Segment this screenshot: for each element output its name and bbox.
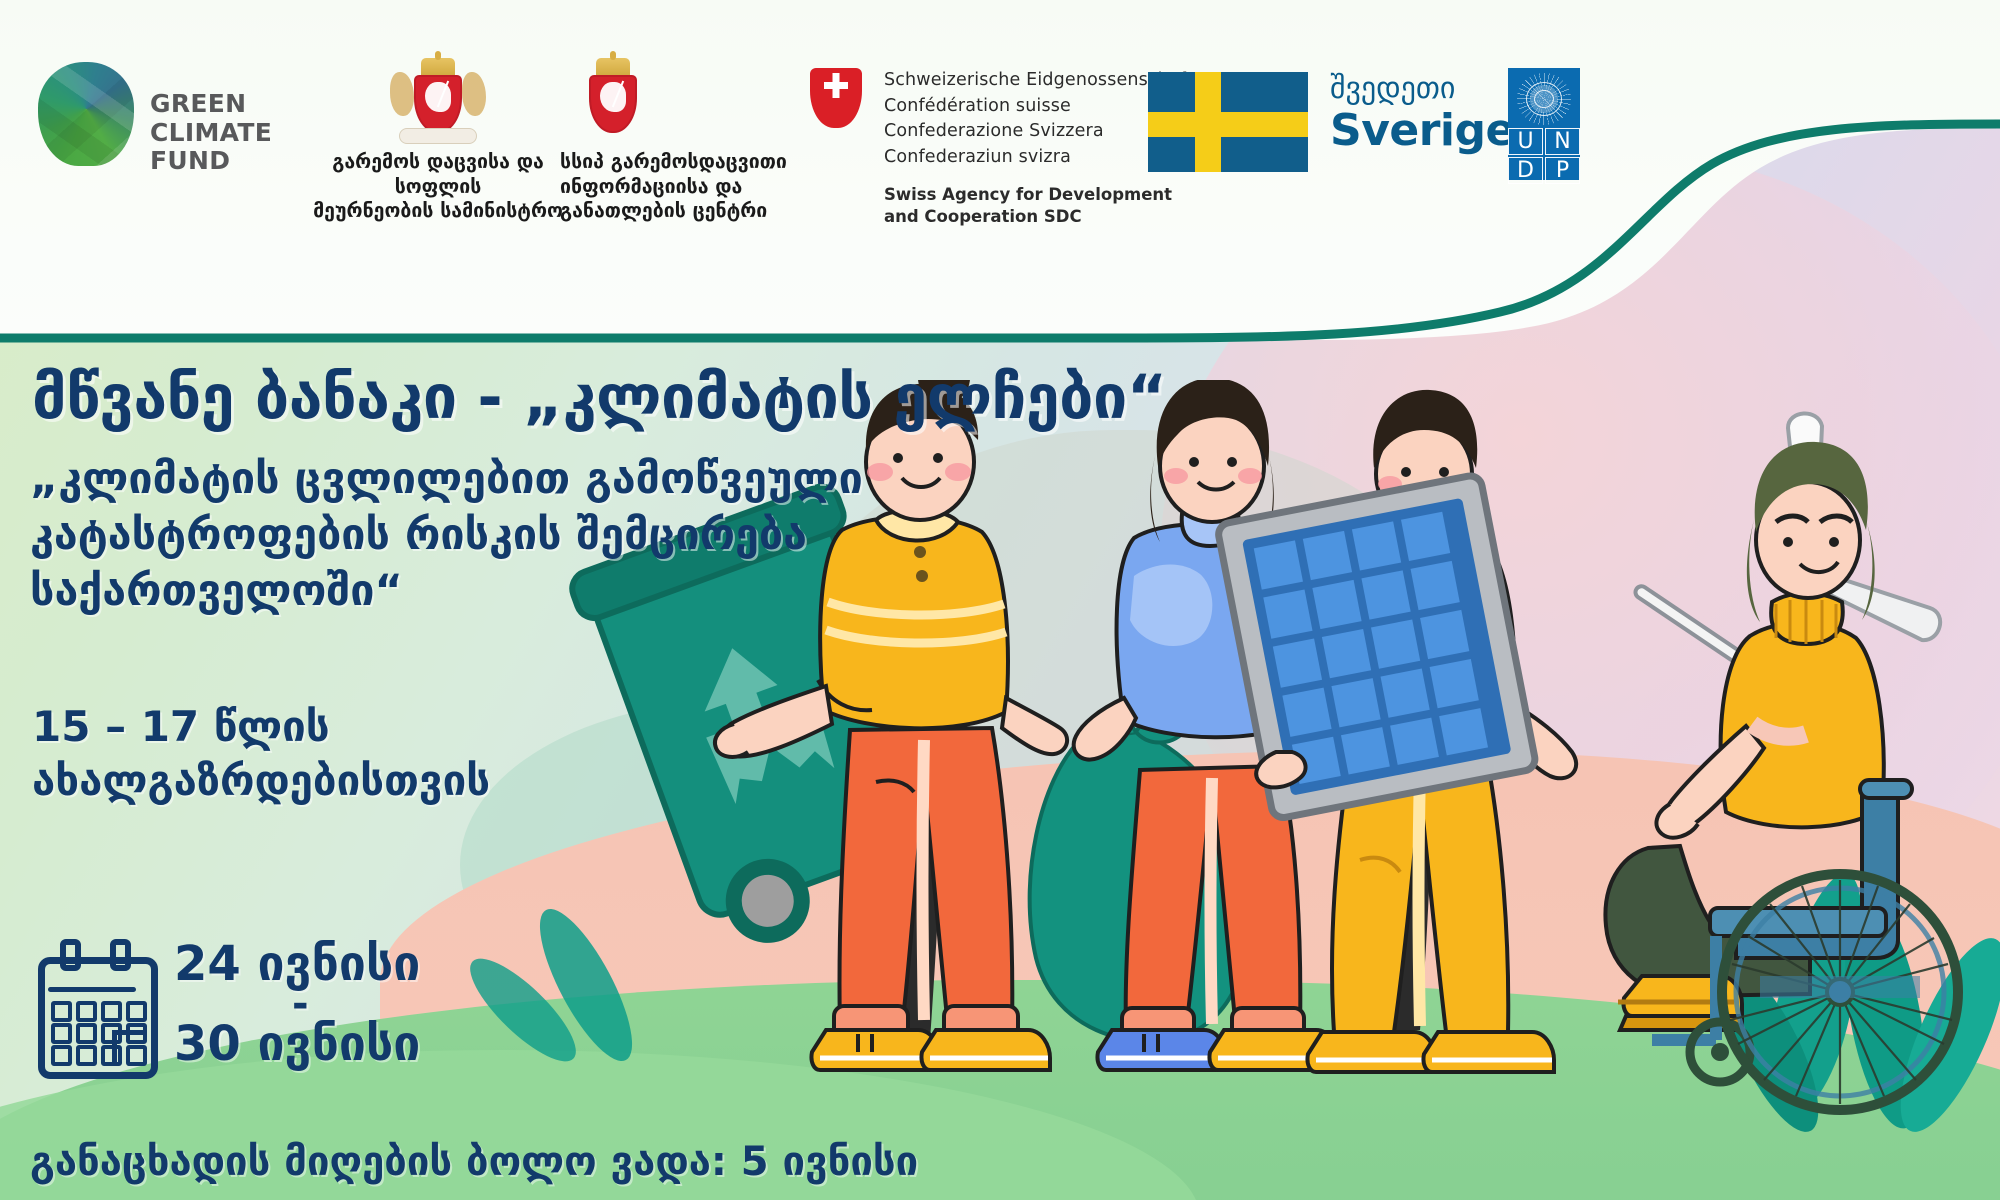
swiss-line-de: Schweizerische Eidgenossenschaft [884, 68, 1193, 94]
undp-letter-grid: U N D P [1508, 128, 1580, 180]
dates-block: 24 ივნისი - 30 ივნისი [34, 940, 420, 1069]
sweden-wordmark: შვედეთი Sverige [1330, 72, 1515, 155]
subtitle-line-1: „კლიმატის ცვლილებით გამოწვეული [30, 452, 1050, 508]
calendar-icon [34, 941, 152, 1069]
swiss-wordmark: Schweizerische Eidgenossenschaft Confédé… [884, 68, 1193, 228]
logo-environmental-info-centre: სსიპ გარემოსდაცვითი ინფორმაციისა და განა… [560, 58, 820, 224]
dates-text: 24 ივნისი - 30 ივნისი [174, 940, 420, 1069]
env-centre-line-3: განათლების ცენტრი [560, 199, 787, 224]
application-deadline: განაცხადის მიღების ბოლო ვადა: 5 ივნისი [30, 1140, 1330, 1184]
undp-letter-p: P [1545, 157, 1580, 184]
georgia-coat-of-arms-icon [407, 58, 469, 138]
swiss-line-it: Confederazione Svizzera [884, 119, 1193, 145]
ministry-wordmark: გარემოს დაცვისა და სოფლის მეურნეობის სამ… [288, 150, 588, 224]
logo-green-climate-fund: GREEN CLIMATE FUND [38, 62, 272, 176]
logo-undp: U N D P [1508, 68, 1580, 180]
logo-sweden: შვედეთი Sverige [1148, 72, 1515, 172]
gcf-line-3: FUND [150, 147, 272, 176]
env-centre-wordmark: სსიპ გარემოსდაცვითი ინფორმაციისა და განა… [560, 150, 787, 224]
poster-canvas: GREEN CLIMATE FUND გარემოს დაცვისა და სო… [0, 0, 2000, 1200]
ministry-line-2: მეურნეობის სამინისტრო [288, 199, 588, 224]
logo-ministry-of-environment: გარემოს დაცვისა და სოფლის მეურნეობის სამ… [288, 58, 588, 224]
swiss-sdc-block: Swiss Agency for Development and Coopera… [884, 184, 1193, 228]
undp-letter-d: D [1508, 157, 1543, 184]
swiss-cross-icon [810, 68, 862, 128]
poster-title: მწვანე ბანაკი - „კლიმატის ელჩები“ [32, 366, 1432, 429]
undp-letter-n: N [1545, 128, 1580, 155]
gcf-wordmark: GREEN CLIMATE FUND [150, 90, 272, 176]
swiss-line-rm: Confederaziun svizra [884, 145, 1193, 171]
gcf-line-1: GREEN [150, 90, 272, 119]
logo-swiss-confederation: Schweizerische Eidgenossenschaft Confédé… [810, 68, 1193, 228]
gcf-line-2: CLIMATE [150, 119, 272, 148]
subtitle-line-3: საქართველოში“ [30, 564, 1050, 620]
ministry-line-1: გარემოს დაცვისა და სოფლის [288, 150, 588, 199]
poster-subtitle: „კლიმატის ცვლილებით გამოწვეული კატასტროფ… [30, 452, 1050, 620]
swiss-line-fr: Confédération suisse [884, 94, 1193, 120]
env-centre-line-2: ინფორმაციისა და [560, 175, 787, 200]
undp-letter-u: U [1508, 128, 1543, 155]
sweden-label-ka: შვედეთი [1330, 72, 1515, 105]
date-end: 30 ივნისი [174, 1020, 420, 1069]
subtitle-line-2: კატასტროფების რისკის შემცირება [30, 508, 1050, 564]
env-centre-line-1: სსიპ გარემოსდაცვითი [560, 150, 787, 175]
person-in-wheelchair [1605, 442, 1958, 1110]
sdc-line-2: and Cooperation SDC [884, 206, 1193, 228]
age-group-block: 15 – 17 წლის ახალგაზრდებისთვის [32, 700, 732, 808]
un-emblem-icon [1517, 73, 1571, 125]
partner-logos: GREEN CLIMATE FUND გარემოს დაცვისა და სო… [0, 0, 1700, 250]
georgia-coat-of-arms-icon [582, 58, 644, 138]
age-group-line-1: 15 – 17 წლის [32, 700, 732, 754]
sweden-label-en: Sverige [1330, 107, 1515, 155]
sdc-line-1: Swiss Agency for Development [884, 184, 1193, 206]
gcf-polygon-icon [38, 62, 134, 166]
sweden-flag-icon [1148, 72, 1308, 172]
age-group-line-2: ახალგაზრდებისთვის [32, 754, 732, 808]
undp-mark: U N D P [1508, 68, 1580, 180]
